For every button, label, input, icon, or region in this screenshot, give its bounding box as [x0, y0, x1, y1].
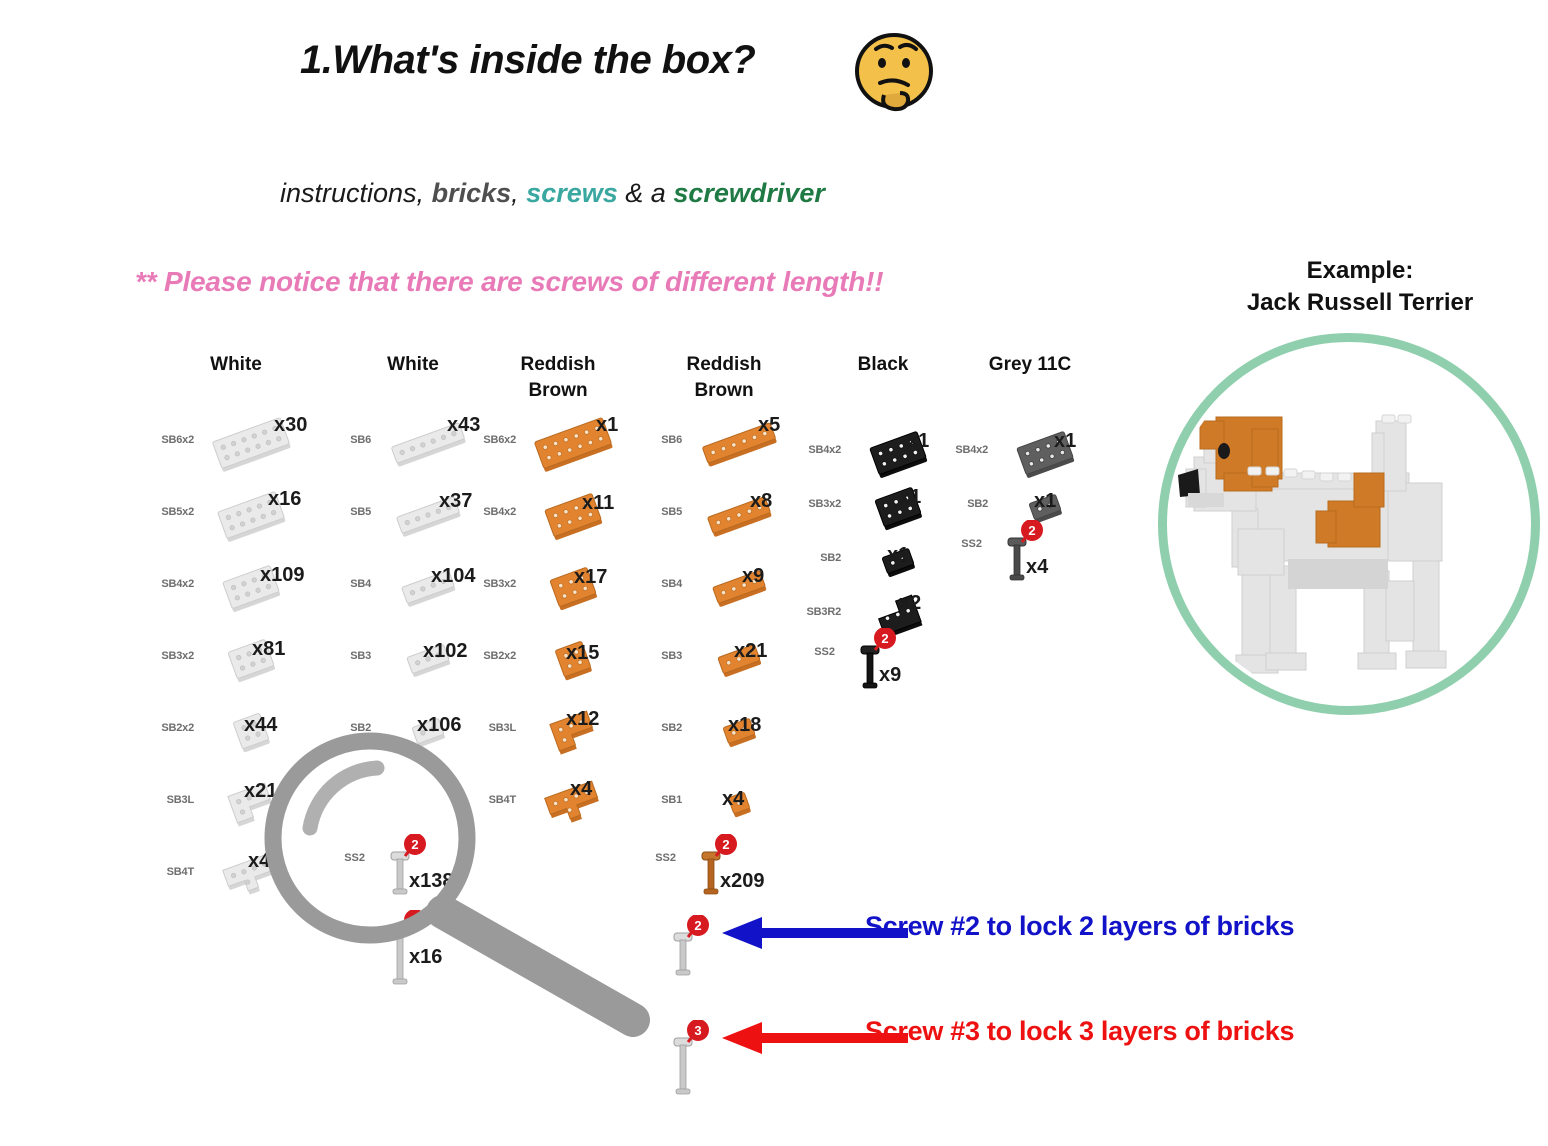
example-caption-line1: Example:	[1180, 255, 1540, 287]
part-code: SB4T	[470, 794, 516, 806]
part-code: SB2x2	[470, 650, 516, 662]
part-code: SB4	[636, 578, 682, 590]
screw-quantity: x4	[1026, 556, 1048, 579]
legend-screw-icon: 3	[650, 1020, 720, 1135]
jack-russell-terrier-brick-model	[1158, 333, 1540, 715]
subtitle-instructions: instructions,	[280, 178, 424, 208]
svg-text:2: 2	[1028, 523, 1035, 538]
part-quantity: x4	[570, 778, 592, 801]
column-header-3: ReddishBrown	[644, 352, 804, 403]
part-row: SB6x2x1	[470, 408, 660, 478]
part-code: SB3	[636, 650, 682, 662]
screw-length-notice: ** Please notice that there are screws o…	[135, 266, 883, 298]
screw-code: SS2	[942, 538, 982, 550]
part-code: SB3L	[148, 794, 194, 806]
page-title: 1.What's inside the box?	[300, 38, 755, 83]
part-row: SB3x2x81	[148, 624, 338, 694]
screw-code: SS2	[636, 852, 676, 864]
part-quantity: x18	[728, 714, 761, 737]
part-row: SB4Tx4	[148, 840, 338, 910]
part-row: SB3Lx21	[148, 768, 338, 838]
part-row: SB4x2x109	[148, 552, 338, 622]
part-code: SB3R2	[795, 606, 841, 618]
part-quantity: x1	[1034, 490, 1056, 513]
part-quantity: x5	[758, 414, 780, 437]
subtitle-bricks: bricks	[432, 178, 512, 208]
part-code: SB5	[325, 506, 371, 518]
part-code: SB2x2	[148, 722, 194, 734]
part-quantity: x4	[722, 788, 744, 811]
screw-row: SS2 2 x209	[636, 834, 836, 914]
thinking-face-icon	[850, 33, 938, 113]
part-quantity: x1	[1054, 430, 1076, 453]
part-code: SB2	[325, 722, 371, 734]
part-code: SB1	[636, 794, 682, 806]
part-quantity: x2	[899, 592, 921, 615]
part-code: SB6	[325, 434, 371, 446]
part-brick-icon	[373, 770, 483, 836]
part-quantity: x4	[248, 850, 270, 873]
screw-quantity: x1386	[409, 870, 465, 893]
part-quantity: x12	[566, 708, 599, 731]
part-code: SB4x2	[942, 444, 988, 456]
example-caption-line2: Jack Russell Terrier	[1180, 287, 1540, 319]
screw-code: SS3	[325, 928, 365, 940]
legend-screw-icon: 2	[650, 915, 720, 1030]
screw-row: SS2 2 x1386	[325, 834, 525, 914]
part-row: SB4x2x11	[470, 480, 660, 550]
part-quantity: x1	[907, 430, 929, 453]
part-code: SB3L	[470, 722, 516, 734]
part-code: SB6	[636, 434, 682, 446]
screw-quantity: x209	[720, 870, 765, 893]
part-row: SB2x2x15	[470, 624, 660, 694]
screw-row: SS2 2 x4	[942, 520, 1142, 600]
part-row: SB4Tx4	[470, 768, 660, 838]
column-header-2: ReddishBrown	[478, 352, 638, 403]
part-quantity: x37	[439, 490, 472, 513]
part-row: SB6x2x30	[148, 408, 338, 478]
part-code: SB5	[636, 506, 682, 518]
svg-text:3: 3	[411, 913, 418, 928]
part-quantity: x109	[260, 564, 305, 587]
part-quantity: x9	[742, 565, 764, 588]
part-quantity: x16	[268, 488, 301, 511]
screw-quantity: x9	[879, 664, 901, 687]
screw-row: SS3 3 x16	[325, 910, 525, 990]
part-code: SB4x2	[795, 444, 841, 456]
part-quantity: x21	[734, 640, 767, 663]
part-code: SB4	[325, 578, 371, 590]
part-quantity: x30	[274, 414, 307, 437]
part-code: SB4T	[148, 866, 194, 878]
column-header-0: White	[156, 352, 316, 378]
part-brick-icon	[684, 554, 794, 620]
screw-code: SS2	[795, 646, 835, 658]
screw-row: SS2 2 x9	[795, 628, 995, 708]
column-header-line2: Brown	[644, 378, 804, 404]
part-brick-icon	[518, 554, 628, 620]
part-code: SB2	[636, 722, 682, 734]
part-code: SB4x2	[148, 578, 194, 590]
column-header-line1: Reddish	[644, 352, 804, 378]
part-quantity: x1	[887, 544, 909, 567]
part-row: SB3x2x17	[470, 552, 660, 622]
part-code: SB6x2	[148, 434, 194, 446]
part-row: SB5x2x16	[148, 480, 338, 550]
svg-text:2: 2	[411, 837, 418, 852]
part-quantity: x11	[582, 492, 614, 515]
part-row: SB2x2x44	[148, 696, 338, 766]
instruction-sheet: 1.What's inside the box? instructions, b…	[0, 0, 1548, 1146]
subtitle-and-a: & a	[625, 178, 666, 208]
subtitle-comma: ,	[511, 178, 519, 208]
part-quantity: x21	[244, 780, 277, 803]
part-row: SB3Lx12	[470, 696, 660, 766]
part-quantity: x106	[417, 714, 462, 737]
svg-text:2: 2	[694, 918, 701, 933]
subtitle-screws: screws	[526, 178, 618, 208]
part-quantity: x1	[899, 486, 921, 509]
legend-label: Screw #2 to lock 2 layers of bricks	[865, 911, 1294, 942]
part-code: SB6x2	[470, 434, 516, 446]
subtitle-screwdriver: screwdriver	[673, 178, 825, 208]
column-header-5: Grey 11C	[950, 352, 1110, 378]
svg-text:2: 2	[881, 631, 888, 646]
column-header-4: Black	[803, 352, 963, 378]
column-header-line2: Brown	[478, 378, 638, 404]
column-header-1: White	[333, 352, 493, 378]
part-code: SB2	[942, 498, 988, 510]
part-quantity: x15	[566, 642, 599, 665]
part-quantity: x17	[574, 566, 607, 589]
part-quantity: x102	[423, 640, 468, 663]
part-quantity: x8	[750, 490, 772, 513]
part-code: SB3	[325, 650, 371, 662]
part-code: SB3x2	[795, 498, 841, 510]
part-quantity: x1	[596, 414, 618, 437]
part-code: SB3x2	[148, 650, 194, 662]
part-quantity: x104	[431, 565, 476, 588]
example-caption: Example: Jack Russell Terrier	[1180, 255, 1540, 318]
screw-code: SS2	[325, 852, 365, 864]
part-brick-icon	[196, 626, 306, 692]
part-code: SB2	[795, 552, 841, 564]
svg-text:2: 2	[722, 837, 729, 852]
legend-label: Screw #3 to lock 3 layers of bricks	[865, 1016, 1294, 1047]
part-quantity: x44	[244, 714, 277, 737]
part-row: SB1x4	[636, 768, 826, 838]
part-quantity: x81	[252, 638, 285, 661]
part-brick-icon	[684, 482, 794, 548]
svg-text:3: 3	[694, 1023, 701, 1038]
screw-quantity: x16	[409, 946, 442, 969]
column-header-line1: Reddish	[478, 352, 638, 378]
part-code: SB5x2	[148, 506, 194, 518]
part-code: SB3x2	[470, 578, 516, 590]
contents-subtitle: instructions, bricks, screws & a screwdr…	[280, 178, 825, 209]
part-code: SB4x2	[470, 506, 516, 518]
